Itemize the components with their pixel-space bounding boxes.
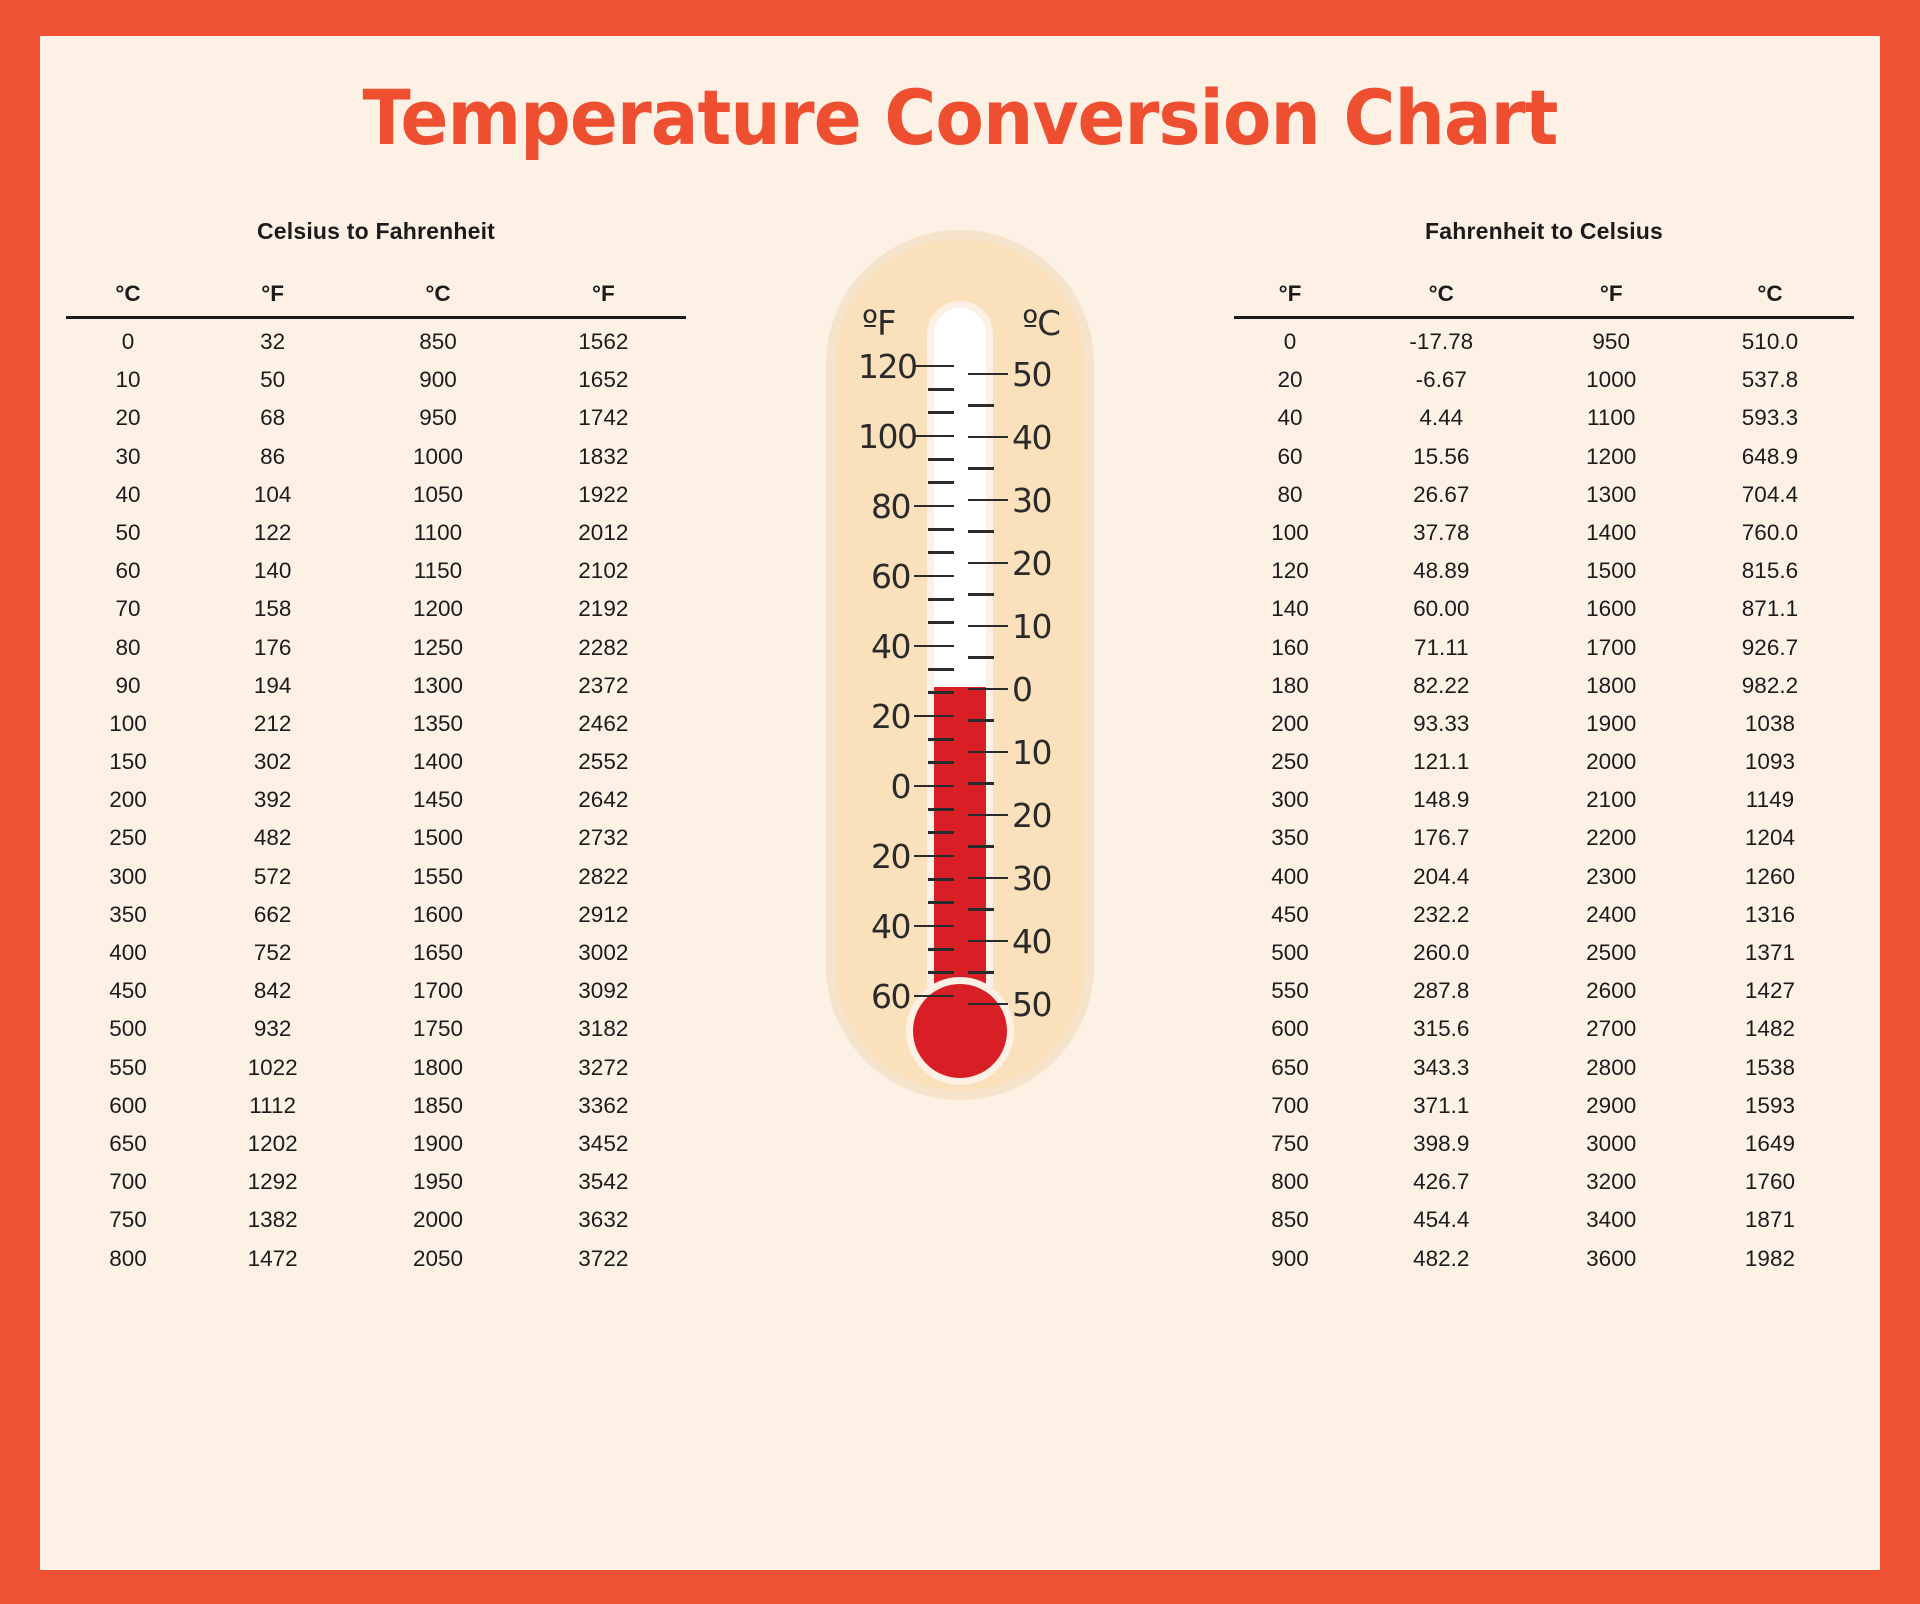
table-cell: 1022 bbox=[190, 1048, 355, 1086]
table-cell: 1250 bbox=[355, 628, 520, 666]
tick-line bbox=[968, 436, 1008, 439]
table-cell: 2462 bbox=[521, 705, 686, 743]
scale-tick-label: 50 bbox=[1008, 988, 1064, 1021]
table-cell: 1100 bbox=[355, 514, 520, 552]
table-cell: 2600 bbox=[1537, 972, 1686, 1010]
table-cell: 1450 bbox=[355, 781, 520, 819]
tick-line bbox=[968, 782, 994, 785]
table-cell: 2000 bbox=[1537, 743, 1686, 781]
table-cell: 400 bbox=[66, 934, 190, 972]
tick-line bbox=[914, 365, 954, 368]
scale-tick-label: 20 bbox=[1008, 547, 1064, 580]
table-cell: 40 bbox=[66, 476, 190, 514]
table-cell: 1562 bbox=[521, 318, 686, 362]
table-cell: 398.9 bbox=[1346, 1125, 1536, 1163]
scale-tick-label: 20 bbox=[858, 840, 914, 873]
table-cell: 1100 bbox=[1537, 399, 1686, 437]
table-cell: 950 bbox=[355, 399, 520, 437]
tick-line bbox=[968, 940, 1008, 943]
table-row: 30057215502822 bbox=[66, 858, 686, 896]
table-cell: 158 bbox=[190, 590, 355, 628]
table-cell: 2100 bbox=[1537, 781, 1686, 819]
table-cell: 2500 bbox=[1537, 934, 1686, 972]
left-table-caption: Celsius to Fahrenheit bbox=[66, 218, 686, 245]
table-cell: 600 bbox=[1234, 1010, 1346, 1048]
table-cell: 1850 bbox=[355, 1087, 520, 1125]
table-cell: 300 bbox=[1234, 781, 1346, 819]
table-cell: 80 bbox=[66, 628, 190, 666]
tick-line bbox=[968, 373, 1008, 376]
table-cell: 1150 bbox=[355, 552, 520, 590]
table-cell: 1202 bbox=[190, 1125, 355, 1163]
table-cell: 800 bbox=[66, 1239, 190, 1277]
table-cell: 1260 bbox=[1686, 858, 1854, 896]
tick-line bbox=[928, 901, 954, 904]
table-cell: 80 bbox=[1234, 476, 1346, 514]
table-row: 6014011502102 bbox=[66, 552, 686, 590]
table-row: 700371.129001593 bbox=[1234, 1087, 1854, 1125]
table-cell: 1800 bbox=[355, 1048, 520, 1086]
col-header-f1: °F bbox=[190, 281, 355, 318]
table-cell: 850 bbox=[355, 318, 520, 362]
table-cell: 180 bbox=[1234, 667, 1346, 705]
scale-tick-label: 40 bbox=[858, 630, 914, 663]
tick-line bbox=[968, 625, 1008, 628]
tick-line bbox=[914, 505, 954, 508]
tick-line bbox=[968, 688, 1008, 691]
tick-line bbox=[928, 668, 954, 671]
table-cell: 200 bbox=[66, 781, 190, 819]
scale-tick-label: 20 bbox=[858, 700, 914, 733]
tick-line bbox=[968, 751, 1008, 754]
table-cell: 426.7 bbox=[1346, 1163, 1536, 1201]
table-cell: 454.4 bbox=[1346, 1201, 1536, 1239]
col-header-c2: °C bbox=[355, 281, 520, 318]
table-cell: 1382 bbox=[190, 1201, 355, 1239]
table-row: 550287.826001427 bbox=[1234, 972, 1854, 1010]
table-cell: 650 bbox=[66, 1125, 190, 1163]
table-cell: 2372 bbox=[521, 667, 686, 705]
scale-tick-label: 120 bbox=[858, 350, 914, 383]
tick-line bbox=[968, 656, 994, 659]
tick-line bbox=[928, 878, 954, 881]
table-row: 500260.025001371 bbox=[1234, 934, 1854, 972]
table-cell: 15.56 bbox=[1346, 437, 1536, 475]
table-cell: 550 bbox=[1234, 972, 1346, 1010]
table-cell: 3272 bbox=[521, 1048, 686, 1086]
table-cell: 2642 bbox=[521, 781, 686, 819]
table-cell: 500 bbox=[1234, 934, 1346, 972]
table-row: 8017612502282 bbox=[66, 628, 686, 666]
table-row: 650120219003452 bbox=[66, 1125, 686, 1163]
tick-line bbox=[968, 499, 1008, 502]
tick-line bbox=[914, 575, 954, 578]
tick-line bbox=[928, 458, 954, 461]
table-cell: 871.1 bbox=[1686, 590, 1854, 628]
col-header-c1: °C bbox=[66, 281, 190, 318]
table-cell: 100 bbox=[66, 705, 190, 743]
table-cell: 600 bbox=[66, 1087, 190, 1125]
thermometer-section: ºF ºC 120100806040200204060 504030201001… bbox=[780, 218, 1140, 1100]
table-row: 14060.001600871.1 bbox=[1234, 590, 1854, 628]
table-cell: 1371 bbox=[1686, 934, 1854, 972]
table-row: 18082.221800982.2 bbox=[1234, 667, 1854, 705]
scale-tick-label: 40 bbox=[1008, 421, 1064, 454]
table-cell: 1550 bbox=[355, 858, 520, 896]
table-cell: 315.6 bbox=[1346, 1010, 1536, 1048]
table-row: 800147220503722 bbox=[66, 1239, 686, 1277]
table-row: 10509001652 bbox=[66, 361, 686, 399]
table-row: 15030214002552 bbox=[66, 743, 686, 781]
table-row: 10021213502462 bbox=[66, 705, 686, 743]
table-cell: 1400 bbox=[1537, 514, 1686, 552]
table-cell: 3002 bbox=[521, 934, 686, 972]
fahrenheit-to-celsius-table: °F °C °F °C 0-17.78950510.020-6.67100053… bbox=[1234, 281, 1854, 1278]
tick-line bbox=[914, 855, 954, 858]
table-cell: 3632 bbox=[521, 1201, 686, 1239]
table-cell: 60 bbox=[1234, 437, 1346, 475]
table-cell: 3722 bbox=[521, 1239, 686, 1277]
table-cell: 950 bbox=[1537, 318, 1686, 362]
table-cell: 176.7 bbox=[1346, 819, 1536, 857]
tick-line bbox=[928, 528, 954, 531]
poster-frame: Temperature Conversion Chart Celsius to … bbox=[0, 0, 1920, 1604]
table-row: 650343.328001538 bbox=[1234, 1048, 1854, 1086]
col-header-f2: °F bbox=[521, 281, 686, 318]
table-cell: 760.0 bbox=[1686, 514, 1854, 552]
table-cell: 350 bbox=[66, 896, 190, 934]
table-row: 800426.732001760 bbox=[1234, 1163, 1854, 1201]
table-cell: 1750 bbox=[355, 1010, 520, 1048]
table-cell: 982.2 bbox=[1686, 667, 1854, 705]
table-row: 600315.627001482 bbox=[1234, 1010, 1854, 1048]
table-cell: 392 bbox=[190, 781, 355, 819]
table-cell: 60 bbox=[66, 552, 190, 590]
table-cell: 1871 bbox=[1686, 1201, 1854, 1239]
table-header-row: °F °C °F °C bbox=[1234, 281, 1854, 318]
table-row: 550102218003272 bbox=[66, 1048, 686, 1086]
table-row: 20689501742 bbox=[66, 399, 686, 437]
table-cell: 3362 bbox=[521, 1087, 686, 1125]
table-cell: 1000 bbox=[355, 437, 520, 475]
table-cell: 48.89 bbox=[1346, 552, 1536, 590]
table-cell: 550 bbox=[66, 1048, 190, 1086]
table-cell: 900 bbox=[355, 361, 520, 399]
table-cell: 1204 bbox=[1686, 819, 1854, 857]
table-cell: 260.0 bbox=[1346, 934, 1536, 972]
table-row: 6015.561200648.9 bbox=[1234, 437, 1854, 475]
scale-tick-label: 10 bbox=[1008, 610, 1064, 643]
table-cell: 2102 bbox=[521, 552, 686, 590]
tick-line bbox=[968, 467, 994, 470]
table-cell: 1500 bbox=[355, 819, 520, 857]
table-cell: 593.3 bbox=[1686, 399, 1854, 437]
table-cell: 3452 bbox=[521, 1125, 686, 1163]
table-cell: 1050 bbox=[355, 476, 520, 514]
table-cell: 68 bbox=[190, 399, 355, 437]
tick-line bbox=[914, 785, 954, 788]
table-row: 20039214502642 bbox=[66, 781, 686, 819]
table-cell: 900 bbox=[1234, 1239, 1346, 1277]
table-cell: 2800 bbox=[1537, 1048, 1686, 1086]
table-cell: 1600 bbox=[355, 896, 520, 934]
table-cell: 350 bbox=[1234, 819, 1346, 857]
table-cell: 2822 bbox=[521, 858, 686, 896]
table-cell: 2732 bbox=[521, 819, 686, 857]
table-cell: 104 bbox=[190, 476, 355, 514]
table-cell: 932 bbox=[190, 1010, 355, 1048]
table-row: 700129219503542 bbox=[66, 1163, 686, 1201]
table-cell: 1200 bbox=[355, 590, 520, 628]
table-cell: 176 bbox=[190, 628, 355, 666]
table-cell: 750 bbox=[66, 1201, 190, 1239]
table-row: 4010410501922 bbox=[66, 476, 686, 514]
scale-tick-label: 100 bbox=[858, 420, 914, 453]
tick-line bbox=[968, 814, 1008, 817]
table-cell: 1760 bbox=[1686, 1163, 1854, 1201]
scale-tick-label: 50 bbox=[1008, 358, 1064, 391]
table-row: 750138220003632 bbox=[66, 1201, 686, 1239]
table-cell: 86 bbox=[190, 437, 355, 475]
table-cell: 1112 bbox=[190, 1087, 355, 1125]
tick-line bbox=[968, 971, 994, 974]
table-cell: 1742 bbox=[521, 399, 686, 437]
table-cell: 343.3 bbox=[1346, 1048, 1536, 1086]
tick-line bbox=[968, 1003, 1008, 1006]
table-cell: 30 bbox=[66, 437, 190, 475]
table-cell: 71.11 bbox=[1346, 628, 1536, 666]
left-table-body: 0328501562105090016522068950174230861000… bbox=[66, 318, 686, 1278]
table-cell: 70 bbox=[66, 590, 190, 628]
table-cell: 40 bbox=[1234, 399, 1346, 437]
table-cell: 3000 bbox=[1537, 1125, 1686, 1163]
table-cell: 26.67 bbox=[1346, 476, 1536, 514]
col-header-f2: °F bbox=[1537, 281, 1686, 318]
table-row: 450232.224001316 bbox=[1234, 896, 1854, 934]
table-cell: -17.78 bbox=[1346, 318, 1536, 362]
table-cell: 140 bbox=[1234, 590, 1346, 628]
table-cell: 302 bbox=[190, 743, 355, 781]
table-cell: 1400 bbox=[355, 743, 520, 781]
scale-tick-label: 60 bbox=[858, 980, 914, 1013]
table-cell: 200 bbox=[1234, 705, 1346, 743]
table-row: 0-17.78950510.0 bbox=[1234, 318, 1854, 362]
col-header-c2: °C bbox=[1686, 281, 1854, 318]
right-table-caption: Fahrenheit to Celsius bbox=[1234, 218, 1854, 245]
table-row: 750398.930001649 bbox=[1234, 1125, 1854, 1163]
table-cell: 122 bbox=[190, 514, 355, 552]
table-row: 600111218503362 bbox=[66, 1087, 686, 1125]
table-cell: 3400 bbox=[1537, 1201, 1686, 1239]
tick-line bbox=[968, 845, 994, 848]
table-row: 900482.236001982 bbox=[1234, 1239, 1854, 1277]
table-cell: 232.2 bbox=[1346, 896, 1536, 934]
table-cell: 815.6 bbox=[1686, 552, 1854, 590]
table-cell: 2192 bbox=[521, 590, 686, 628]
tick-line bbox=[968, 530, 994, 533]
tick-line bbox=[968, 404, 994, 407]
table-cell: 32 bbox=[190, 318, 355, 362]
table-cell: 1149 bbox=[1686, 781, 1854, 819]
scale-tick-label: 80 bbox=[858, 490, 914, 523]
table-cell: 800 bbox=[1234, 1163, 1346, 1201]
table-cell: 90 bbox=[66, 667, 190, 705]
table-row: 0328501562 bbox=[66, 318, 686, 362]
table-cell: 287.8 bbox=[1346, 972, 1536, 1010]
table-cell: 752 bbox=[190, 934, 355, 972]
table-cell: 1093 bbox=[1686, 743, 1854, 781]
fahrenheit-to-celsius-section: Fahrenheit to Celsius °F °C °F °C 0-17.7… bbox=[1234, 218, 1854, 1278]
table-cell: 700 bbox=[66, 1163, 190, 1201]
tick-line bbox=[968, 908, 994, 911]
table-row: 404.441100593.3 bbox=[1234, 399, 1854, 437]
table-row: 5012211002012 bbox=[66, 514, 686, 552]
table-cell: 1950 bbox=[355, 1163, 520, 1201]
table-cell: 842 bbox=[190, 972, 355, 1010]
table-cell: 926.7 bbox=[1686, 628, 1854, 666]
table-cell: 2912 bbox=[521, 896, 686, 934]
table-cell: 1000 bbox=[1537, 361, 1686, 399]
tick-line bbox=[928, 971, 954, 974]
scale-tick-label: 0 bbox=[1008, 673, 1064, 706]
content-row: Celsius to Fahrenheit °C °F °C °F 032850… bbox=[40, 156, 1880, 1278]
table-cell: 148.9 bbox=[1346, 781, 1536, 819]
scale-tick-label: 30 bbox=[1008, 484, 1064, 517]
table-cell: 3182 bbox=[521, 1010, 686, 1048]
table-cell: 300 bbox=[66, 858, 190, 896]
celsius-unit-label: ºC bbox=[1022, 304, 1060, 344]
table-row: 35066216002912 bbox=[66, 896, 686, 934]
scale-tick-label: 40 bbox=[858, 910, 914, 943]
table-cell: 1649 bbox=[1686, 1125, 1854, 1163]
table-row: 10037.781400760.0 bbox=[1234, 514, 1854, 552]
table-cell: 50 bbox=[190, 361, 355, 399]
table-cell: 1982 bbox=[1686, 1239, 1854, 1277]
table-row: 12048.891500815.6 bbox=[1234, 552, 1854, 590]
tick-line bbox=[914, 435, 954, 438]
table-cell: -6.67 bbox=[1346, 361, 1536, 399]
table-cell: 4.44 bbox=[1346, 399, 1536, 437]
table-row: 308610001832 bbox=[66, 437, 686, 475]
thermometer-graphic: ºF ºC 120100806040200204060 504030201001… bbox=[826, 230, 1094, 1100]
table-row: 7015812002192 bbox=[66, 590, 686, 628]
table-row: 50093217503182 bbox=[66, 1010, 686, 1048]
tick-line bbox=[914, 715, 954, 718]
table-cell: 1472 bbox=[190, 1239, 355, 1277]
scale-tick-label: 30 bbox=[1008, 862, 1064, 895]
scale-tick-label: 20 bbox=[1008, 799, 1064, 832]
tick-line bbox=[928, 948, 954, 951]
col-header-f1: °F bbox=[1234, 281, 1346, 318]
table-cell: 850 bbox=[1234, 1201, 1346, 1239]
tick-line bbox=[928, 411, 954, 414]
table-cell: 700 bbox=[1234, 1087, 1346, 1125]
table-cell: 1700 bbox=[355, 972, 520, 1010]
table-cell: 1500 bbox=[1537, 552, 1686, 590]
table-cell: 1832 bbox=[521, 437, 686, 475]
table-cell: 1300 bbox=[355, 667, 520, 705]
table-cell: 20 bbox=[66, 399, 190, 437]
fahrenheit-unit-label: ºF bbox=[862, 304, 896, 344]
table-row: 16071.111700926.7 bbox=[1234, 628, 1854, 666]
table-cell: 194 bbox=[190, 667, 355, 705]
right-table-body: 0-17.78950510.020-6.671000537.8404.44110… bbox=[1234, 318, 1854, 1278]
table-cell: 648.9 bbox=[1686, 437, 1854, 475]
tick-line bbox=[928, 598, 954, 601]
table-cell: 2900 bbox=[1537, 1087, 1686, 1125]
table-cell: 704.4 bbox=[1686, 476, 1854, 514]
table-cell: 500 bbox=[66, 1010, 190, 1048]
table-cell: 3092 bbox=[521, 972, 686, 1010]
table-cell: 1800 bbox=[1537, 667, 1686, 705]
table-cell: 0 bbox=[1234, 318, 1346, 362]
table-cell: 37.78 bbox=[1346, 514, 1536, 552]
table-row: 9019413002372 bbox=[66, 667, 686, 705]
table-cell: 1300 bbox=[1537, 476, 1686, 514]
table-cell: 482 bbox=[190, 819, 355, 857]
tick-line bbox=[968, 562, 1008, 565]
table-cell: 2050 bbox=[355, 1239, 520, 1277]
table-cell: 1600 bbox=[1537, 590, 1686, 628]
table-cell: 82.22 bbox=[1346, 667, 1536, 705]
tick-line bbox=[928, 761, 954, 764]
scale-tick-label: 0 bbox=[858, 770, 914, 803]
col-header-c1: °C bbox=[1346, 281, 1536, 318]
table-cell: 572 bbox=[190, 858, 355, 896]
table-cell: 1427 bbox=[1686, 972, 1854, 1010]
table-cell: 250 bbox=[66, 819, 190, 857]
table-cell: 2700 bbox=[1537, 1010, 1686, 1048]
table-cell: 150 bbox=[66, 743, 190, 781]
tick-line bbox=[968, 877, 1008, 880]
table-cell: 1350 bbox=[355, 705, 520, 743]
celsius-scale: 504030201001020304050 bbox=[968, 366, 1066, 966]
tick-line bbox=[928, 691, 954, 694]
tick-line bbox=[928, 831, 954, 834]
fahrenheit-scale: 120100806040200204060 bbox=[856, 366, 954, 966]
tick-line bbox=[928, 738, 954, 741]
table-row: 25048215002732 bbox=[66, 819, 686, 857]
table-row: 45084217003092 bbox=[66, 972, 686, 1010]
table-cell: 1538 bbox=[1686, 1048, 1854, 1086]
table-cell: 1700 bbox=[1537, 628, 1686, 666]
table-row: 8026.671300704.4 bbox=[1234, 476, 1854, 514]
tick-line bbox=[928, 551, 954, 554]
table-header-row: °C °F °C °F bbox=[66, 281, 686, 318]
table-cell: 400 bbox=[1234, 858, 1346, 896]
table-cell: 212 bbox=[190, 705, 355, 743]
table-cell: 510.0 bbox=[1686, 318, 1854, 362]
tick-line bbox=[928, 808, 954, 811]
chart-sheet: Temperature Conversion Chart Celsius to … bbox=[40, 36, 1880, 1570]
table-cell: 1652 bbox=[521, 361, 686, 399]
table-cell: 2300 bbox=[1537, 858, 1686, 896]
table-cell: 1292 bbox=[190, 1163, 355, 1201]
table-cell: 204.4 bbox=[1346, 858, 1536, 896]
table-cell: 650 bbox=[1234, 1048, 1346, 1086]
table-cell: 93.33 bbox=[1346, 705, 1536, 743]
table-cell: 1900 bbox=[355, 1125, 520, 1163]
tick-line bbox=[968, 719, 994, 722]
table-row: 850454.434001871 bbox=[1234, 1201, 1854, 1239]
scale-tick-label: 40 bbox=[1008, 925, 1064, 958]
page-title: Temperature Conversion Chart bbox=[104, 36, 1815, 156]
table-cell: 1316 bbox=[1686, 896, 1854, 934]
table-cell: 450 bbox=[1234, 896, 1346, 934]
table-cell: 160 bbox=[1234, 628, 1346, 666]
table-cell: 2012 bbox=[521, 514, 686, 552]
scale-tick-label: 60 bbox=[858, 560, 914, 593]
